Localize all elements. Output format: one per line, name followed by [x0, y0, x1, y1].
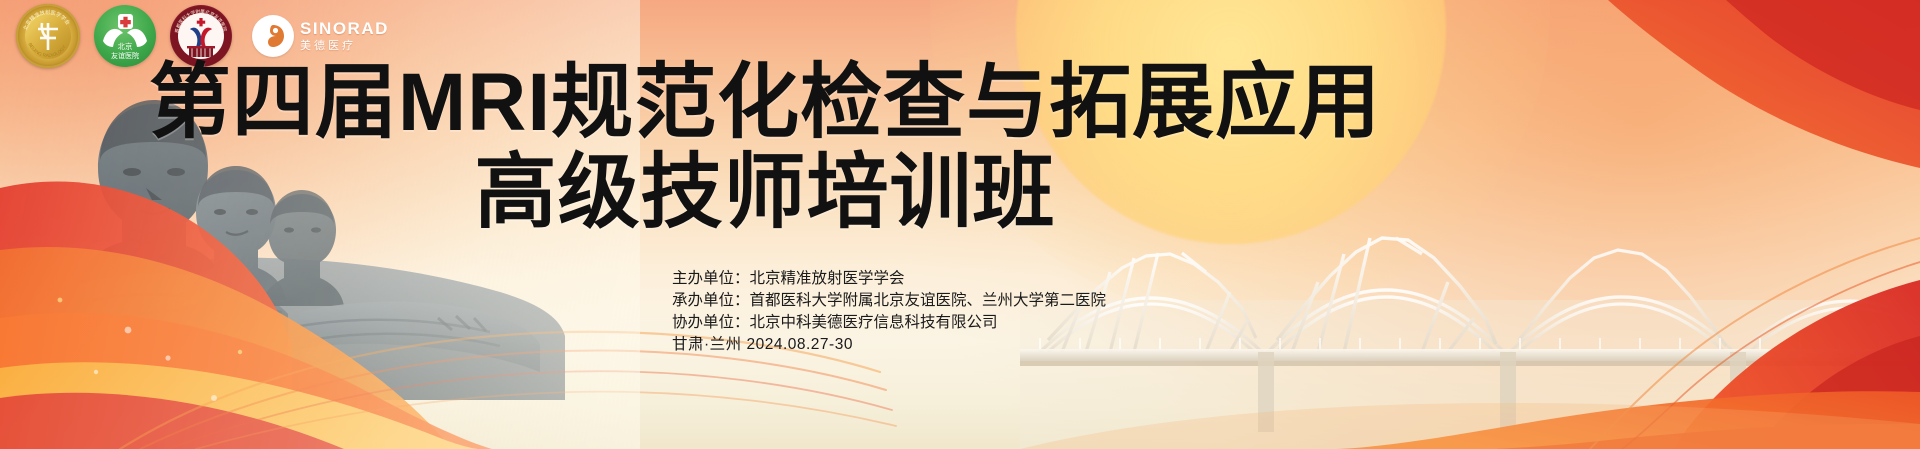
co-organizer-line: 协办单位：北京中科美德医疗信息科技有限公司 — [672, 312, 1106, 334]
svg-text:北京: 北京 — [118, 42, 133, 51]
svg-text:北京精准放射医学学会: 北京精准放射医学学会 — [21, 8, 72, 31]
page-title-line-2: 高级技师培训班 — [0, 152, 1530, 234]
gold-medical-society-seal: 北京精准放射医学学会 BEIJING RADIOLOGY — [16, 4, 80, 68]
svg-text:友谊医院: 友谊医院 — [111, 51, 139, 60]
sinorad-logo: SINORAD 美德医疗 — [252, 15, 389, 57]
seal-ring-text: 北京精准放射医学学会 BEIJING RADIOLOGY — [16, 4, 80, 68]
sinorad-wordmark-en: SINORAD — [300, 20, 389, 37]
host-organization-line: 主办单位：北京精准放射医学学会 — [672, 268, 1106, 290]
beijing-friendship-hospital-logo: 北京 友谊医院 — [94, 5, 156, 67]
conference-banner: 北京精准放射医学学会 BEIJING RADIOLOGY — [0, 0, 1920, 449]
page-title-line-1: 第四届MRI规范化检查与拓展应用 — [0, 62, 1530, 144]
organizer-line: 承办单位：首都医科大学附属北京友谊医院、兰州大学第二医院 — [672, 290, 1106, 312]
dove-cross-icon: 北京 友谊医院 — [96, 7, 154, 65]
sinorad-eye-mark-icon — [252, 15, 294, 57]
sinorad-wordmark-cn: 美德医疗 — [300, 41, 389, 52]
svg-text:BEIJING RADIOLOGY: BEIJING RADIOLOGY — [28, 42, 67, 58]
date-location-line: 甘肃·兰州 2024.08.27-30 — [672, 334, 1106, 356]
event-info-block: 主办单位：北京精准放射医学学会 承办单位：首都医科大学附属北京友谊医院、兰州大学… — [672, 268, 1106, 356]
